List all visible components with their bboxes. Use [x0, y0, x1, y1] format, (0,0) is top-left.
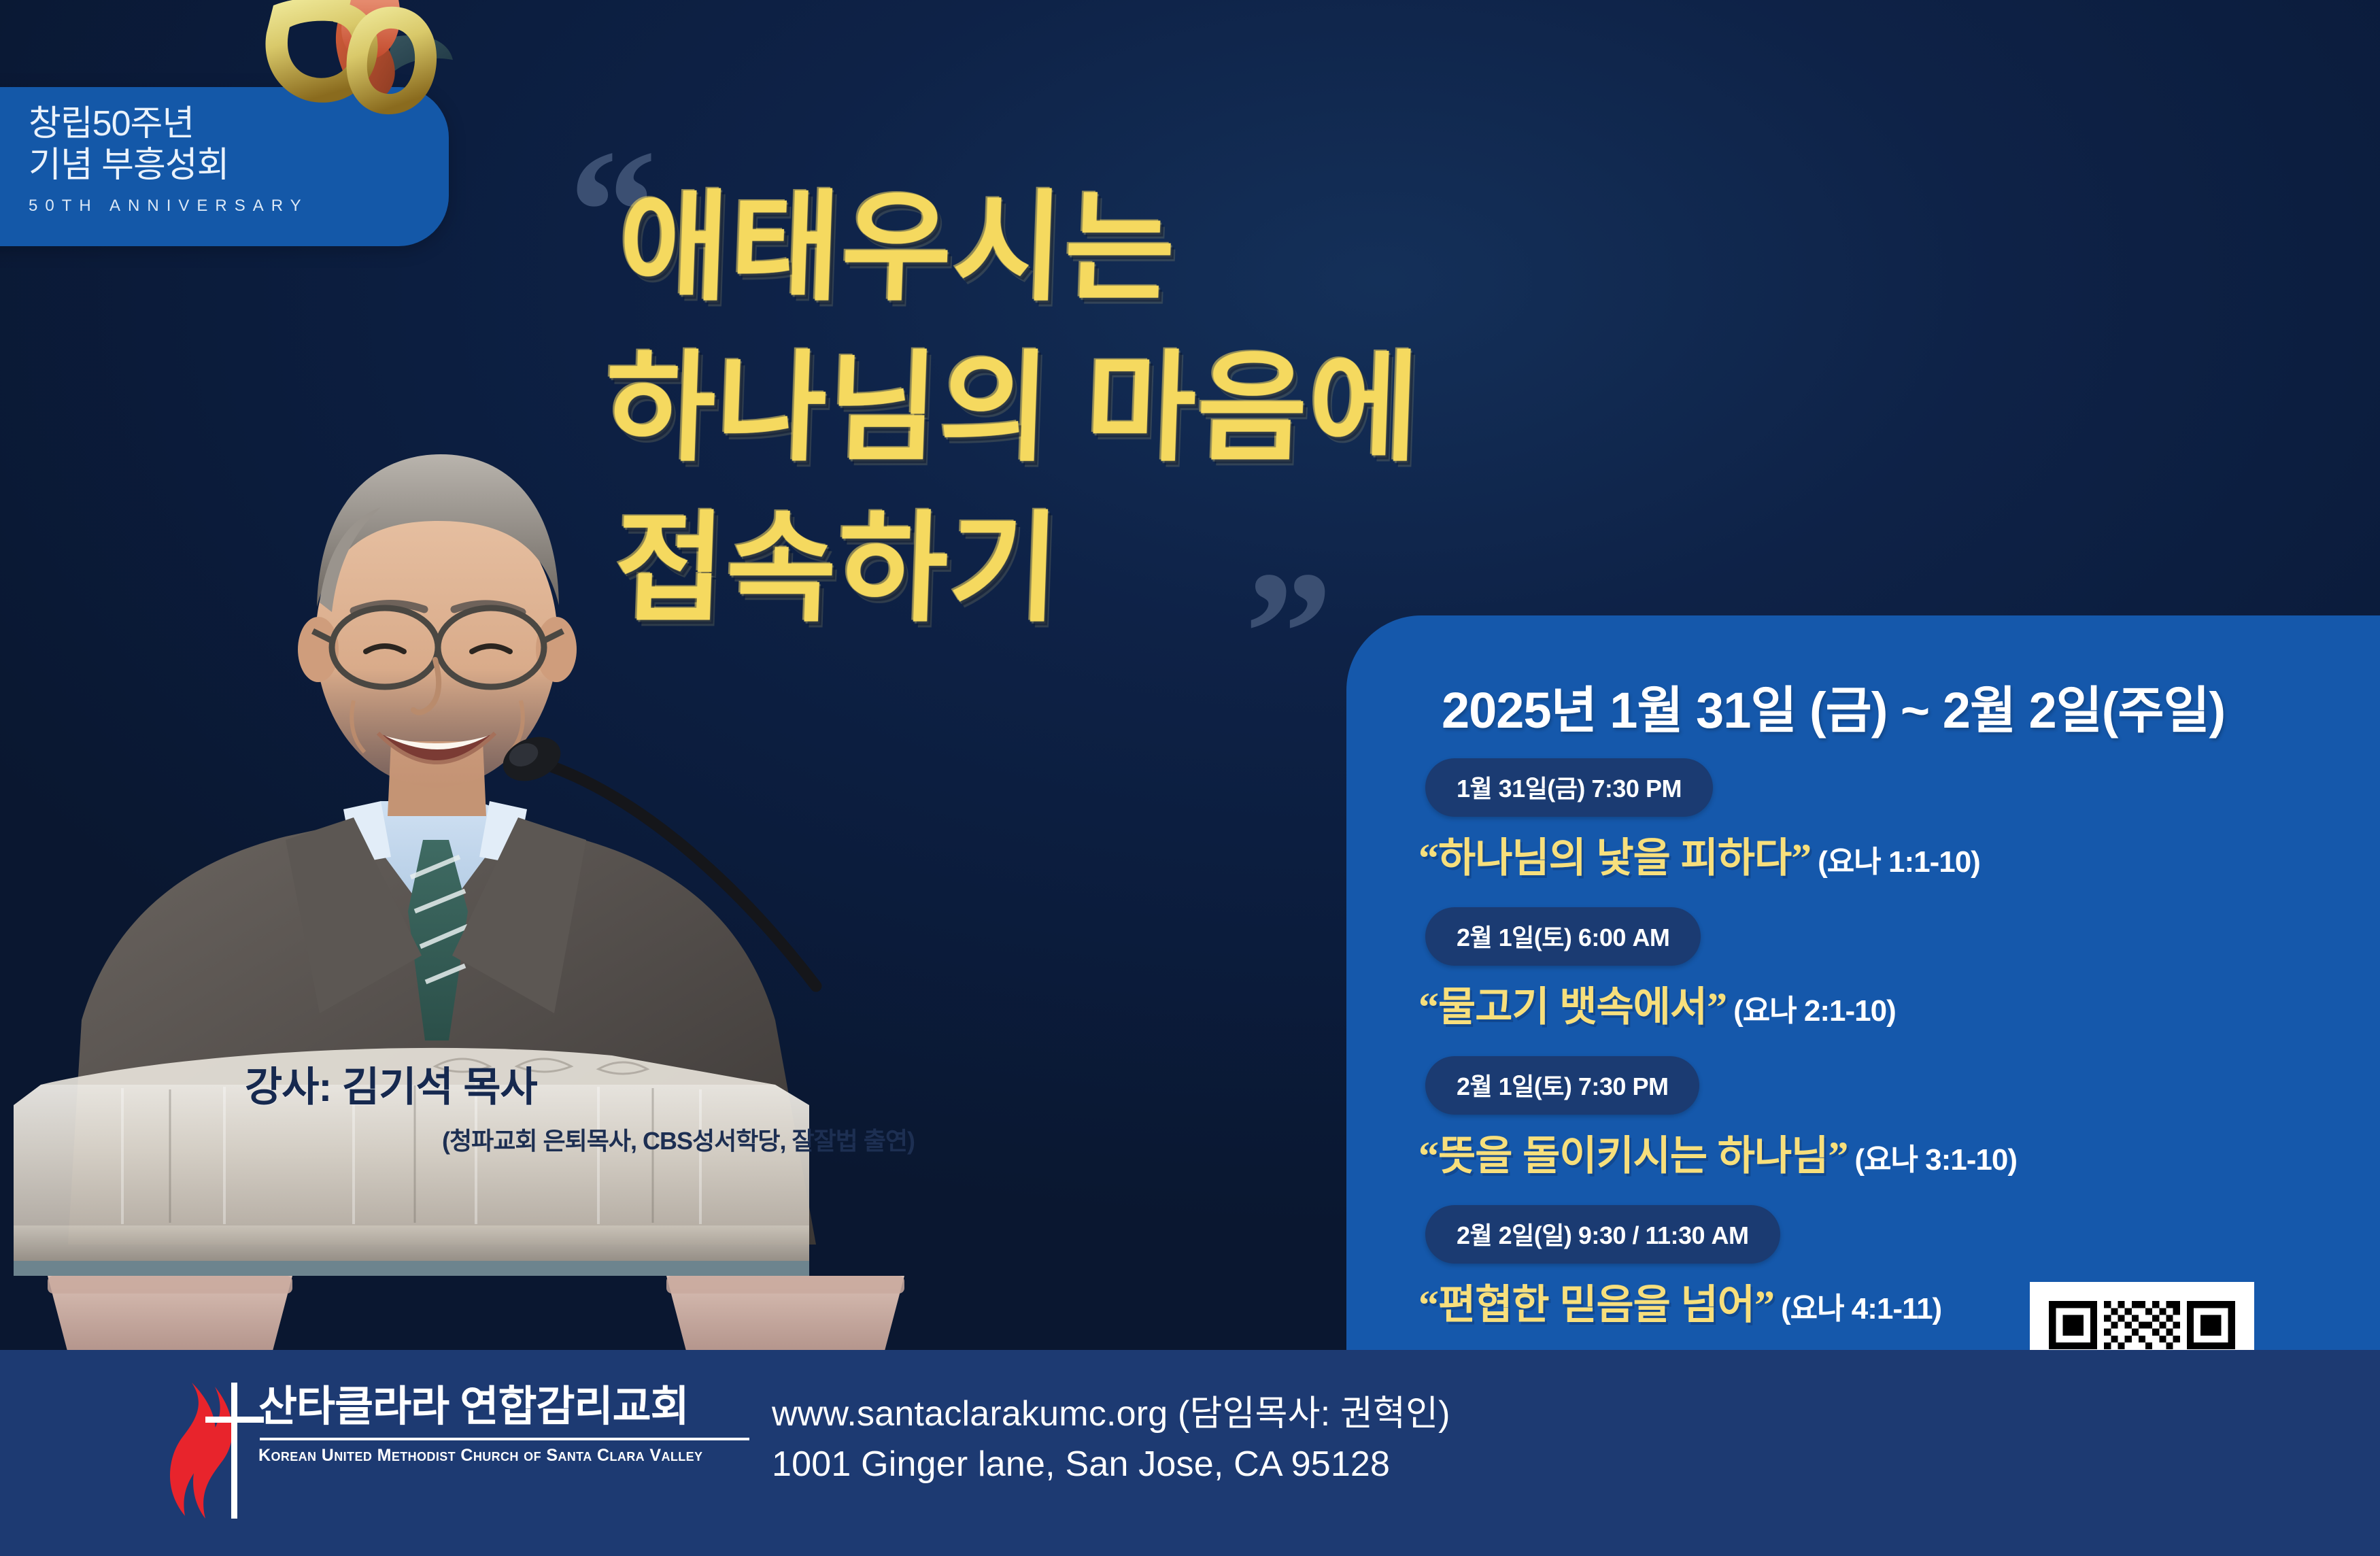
session-time-badge: 1월 31일(금) 7:30 PM: [1425, 758, 1713, 817]
session-topic-row: “하나님의 낯을 피하다”(요나 1:1-10): [1414, 825, 2366, 884]
session-item: 1월 31일(금) 7:30 PM “하나님의 낯을 피하다”(요나 1:1-1…: [1414, 758, 2366, 884]
church-address: 1001 Ginger lane, San Jose, CA 95128: [772, 1440, 1450, 1490]
website-and-pastor[interactable]: www.santaclarakumc.org (담임목사: 권혁인): [772, 1389, 1450, 1440]
session-reference: (요나 4:1-11): [1781, 1292, 1941, 1325]
speaker-description: (청파교회 은퇴목사, CBS성서학당, 잘잘법 출연): [245, 1121, 952, 1157]
flame-50-logo-icon: 주년: [224, 0, 469, 158]
church-name-english: Korean United Methodist Church of Santa …: [258, 1446, 775, 1466]
church-name-korean: 산타클라라 연합감리교회: [258, 1383, 775, 1431]
event-date-range: 2025년 1월 31일 (금) ~ 2월 2일(주일): [1442, 670, 2225, 743]
session-item: 2월 1일(토) 7:30 PM “뜻을 돌이키시는 하나님”(요나 3:1-1…: [1414, 1056, 2366, 1182]
church-name-divider: [260, 1438, 749, 1440]
session-item: 2월 1일(토) 6:00 AM “물고기 뱃속에서”(요나 2:1-10): [1414, 907, 2366, 1033]
speaker-caption: 강사: 김기석 목사 (청파교회 은퇴목사, CBS성서학당, 잘잘법 출연): [245, 1054, 952, 1157]
session-reference: (요나 3:1-10): [1854, 1143, 2017, 1177]
footer-bar: 산타클라라 연합감리교회 Korean United Methodist Chu…: [0, 1350, 2380, 1556]
session-topic: “편협한 믿음을 넘어”: [1418, 1282, 1774, 1327]
session-topic: “물고기 뱃속에서”: [1418, 984, 1727, 1030]
session-time-badge: 2월 1일(토) 7:30 PM: [1425, 1056, 1699, 1115]
schedule-panel: 2025년 1월 31일 (금) ~ 2월 2일(주일) 1월 31일(금) 7…: [1346, 615, 2380, 1350]
session-topic-text: 뜻을 돌이키시는 하나님: [1438, 1133, 1828, 1179]
session-reference: (요나 2:1-10): [1733, 994, 1896, 1028]
speaker-name: 강사: 김기석 목사: [245, 1054, 952, 1113]
session-time-badge: 2월 1일(토) 6:00 AM: [1425, 907, 1701, 966]
session-topic-text: 물고기 뱃속에서: [1438, 984, 1707, 1030]
session-reference: (요나 1:1-10): [1818, 845, 1980, 879]
contact-info: www.santaclarakumc.org (담임목사: 권혁인) 1001 …: [772, 1389, 1450, 1490]
session-topic-text: 편협한 믿음을 넘어: [1438, 1282, 1754, 1327]
session-topic-text: 하나님의 낯을 피하다: [1438, 835, 1791, 881]
session-topic: “뜻을 돌이키시는 하나님”: [1418, 1133, 1848, 1179]
session-topic-row: “뜻을 돌이키시는 하나님”(요나 3:1-10): [1414, 1123, 2366, 1182]
session-list: 1월 31일(금) 7:30 PM “하나님의 낯을 피하다”(요나 1:1-1…: [1414, 758, 2366, 1354]
anniversary-subtitle: 50TH ANNIVERSARY: [29, 197, 301, 216]
session-time-badge: 2월 2일(일) 9:30 / 11:30 AM: [1425, 1205, 1780, 1264]
church-identity: 산타클라라 연합감리교회 Korean United Methodist Chu…: [258, 1383, 775, 1466]
revival-meeting-poster: 창립50주년 기념 부흥성회 50TH ANNIVERSARY: [0, 0, 2380, 1556]
main-title: 애태우시는 하나님의 마음에 접속하기: [619, 169, 1775, 649]
session-topic-row: “물고기 뱃속에서”(요나 2:1-10): [1414, 974, 2366, 1033]
title-line-1: 애태우시는: [616, 169, 1778, 329]
session-topic: “하나님의 낯을 피하다”: [1418, 835, 1811, 881]
title-line-2: 하나님의 마음에: [602, 329, 1778, 490]
close-quote-mark: ”: [1244, 570, 1333, 697]
